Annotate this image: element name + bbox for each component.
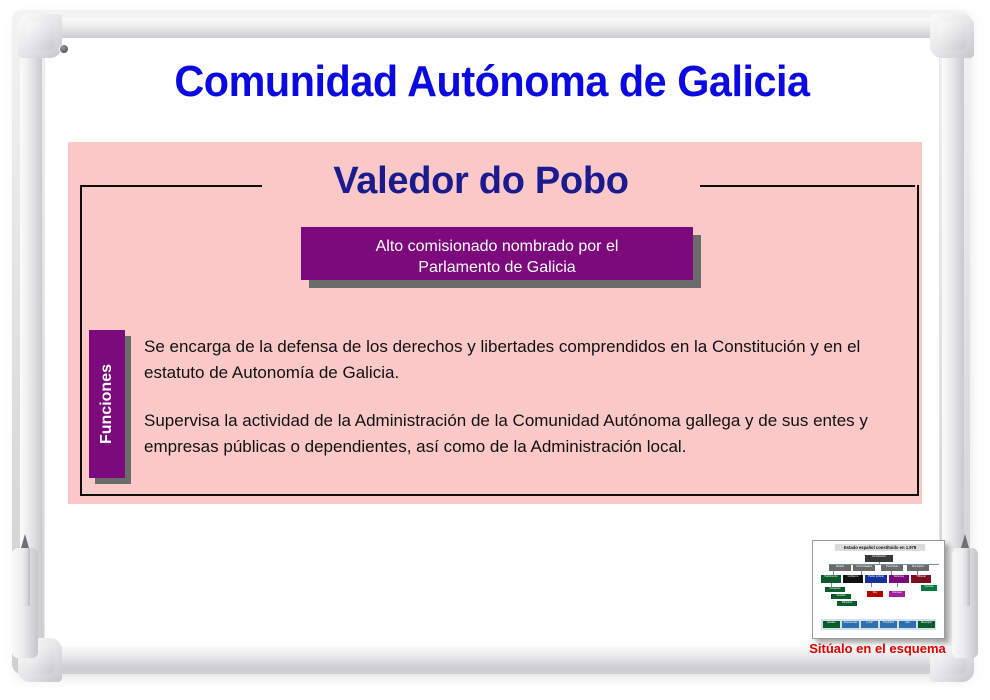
functions-paragraph-1: Se encarga de la defensa de los derechos… (144, 334, 906, 386)
thumbnail-connector (871, 583, 872, 587)
functions-tab: Funciones (89, 330, 125, 478)
thumbnail-connector (917, 571, 918, 575)
thumbnail-node: Constitución (865, 555, 893, 562)
thumbnail-node: Gobierno (843, 575, 863, 583)
thumbnail-connector (891, 571, 892, 575)
frame-screw-icon (60, 45, 68, 53)
thumbnail-node: Parlamento (821, 575, 841, 583)
thumbnail-node: Defensor (889, 575, 909, 583)
slide-canvas: Comunidad Autónoma de Galicia Valedor do… (0, 0, 990, 700)
marker-pen-left (21, 548, 30, 606)
diagram-thumbnail[interactable]: Estado español constituido en 1.978 Cons… (812, 540, 945, 639)
thumbnail-node: Rey (867, 591, 883, 597)
thumbnail-node: Municipios (907, 565, 929, 571)
thumbnail-node: Corona (921, 585, 937, 591)
definition-line-2: Parlamento de Galicia (301, 257, 693, 278)
thumbnail-caption[interactable]: Sitúalo en el esquema (806, 641, 949, 656)
page-title: Comunidad Autónoma de Galicia (71, 57, 913, 107)
functions-description: Se encarga de la defensa de los derechos… (144, 334, 906, 460)
thumbnail-footer-cell: Estado (823, 621, 840, 628)
thumbnail-node: Tribunal (911, 575, 931, 583)
thumbnail-footer-cell: Isla (899, 621, 916, 628)
thumbnail-node: Congreso (825, 587, 845, 592)
marker-pen-right (961, 548, 970, 606)
thumbnail-connector (897, 583, 898, 587)
thumbnail-node: Provincias (881, 565, 903, 571)
definition-line-1: Alto comisionado nombrado por el (301, 236, 693, 257)
thumbnail-footer-cell: Provincia (880, 621, 897, 628)
thumbnail-footer-cell: Local (861, 621, 878, 628)
thumbnail-connector (829, 564, 939, 565)
thumbnail-title: Estado español constituido en 1.978 (835, 544, 925, 551)
thumbnail-node: Ministros (837, 601, 857, 606)
panel-heading: Valedor do Pobo (262, 160, 700, 203)
thumbnail-node: Poder judicial (865, 575, 887, 583)
thumbnail-connector (833, 571, 834, 575)
thumbnail-node: Comunidades (853, 565, 875, 571)
thumbnail-footer-cell: Municipio (918, 621, 935, 628)
functions-paragraph-2: Supervisa la actividad de la Administrac… (144, 408, 906, 460)
definition-box: Alto comisionado nombrado por el Parlame… (301, 227, 693, 280)
thumbnail-node: Consejo (889, 591, 905, 597)
thumbnail-footer-cell: Autonomías (842, 621, 859, 628)
thumbnail-connector (861, 571, 862, 575)
frame-rail-top (30, 18, 954, 38)
thumbnail-node: Senado (831, 594, 851, 599)
thumbnail-connector (831, 583, 832, 587)
functions-tab-label: Funciones (98, 364, 116, 444)
frame-corner-top-right (930, 14, 974, 58)
frame-corner-top-left (18, 14, 62, 58)
